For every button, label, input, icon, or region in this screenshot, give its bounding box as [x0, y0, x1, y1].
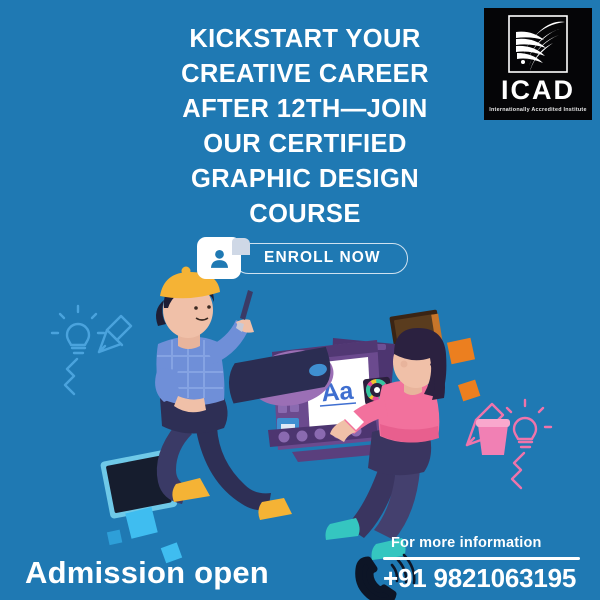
canvas-aa-text: Aa	[320, 377, 355, 408]
blue-square-prop	[107, 530, 122, 545]
admission-open-text: Admission open	[25, 555, 269, 591]
blue-square-prop	[125, 507, 157, 539]
phone-number[interactable]: +91 9821063195	[383, 563, 588, 594]
lightbulb-pencil-icon-left	[52, 306, 131, 394]
headline-line-1: KICKSTART YOUR	[150, 22, 460, 57]
designer-male-figure	[155, 267, 339, 521]
book-prop	[389, 309, 444, 354]
pink-cup-prop	[476, 419, 510, 455]
divider	[383, 557, 580, 560]
headline-line-6: COURSE	[150, 197, 460, 232]
poster-canvas: Aa	[0, 0, 600, 600]
enroll-now-button[interactable]: ENROLL NOW	[197, 237, 408, 279]
logo-tagline: Internationally Accredited Institute	[489, 107, 586, 113]
icad-logo: ICAD Internationally Accredited Institut…	[484, 8, 592, 120]
design-monitor: Aa	[268, 338, 395, 462]
for-more-information-label: For more information	[383, 535, 588, 551]
person-avatar-icon	[197, 237, 241, 279]
color-wheel-icon	[363, 377, 393, 406]
headline-line-5: GRAPHIC DESIGN	[150, 162, 460, 197]
logo-wordmark: ICAD	[501, 77, 575, 104]
contact-info-block: For more information +91 9821063195	[383, 535, 588, 594]
headline-line-3: AFTER 12TH—JOIN	[150, 92, 460, 127]
enroll-now-label: ENROLL NOW	[233, 243, 408, 274]
page-title: KICKSTART YOUR CREATIVE CAREER AFTER 12T…	[150, 22, 460, 232]
headline-line-4: OUR CERTIFIED	[150, 127, 460, 162]
orange-square-prop	[458, 380, 480, 402]
logo-wing-swoosh-icon	[503, 14, 573, 76]
headline-line-2: CREATIVE CAREER	[150, 57, 460, 92]
designer-female-figure	[326, 328, 447, 560]
lightbulb-pencil-icon-right	[467, 400, 551, 488]
orange-square-prop	[447, 338, 475, 365]
tablet-prop	[100, 449, 178, 519]
